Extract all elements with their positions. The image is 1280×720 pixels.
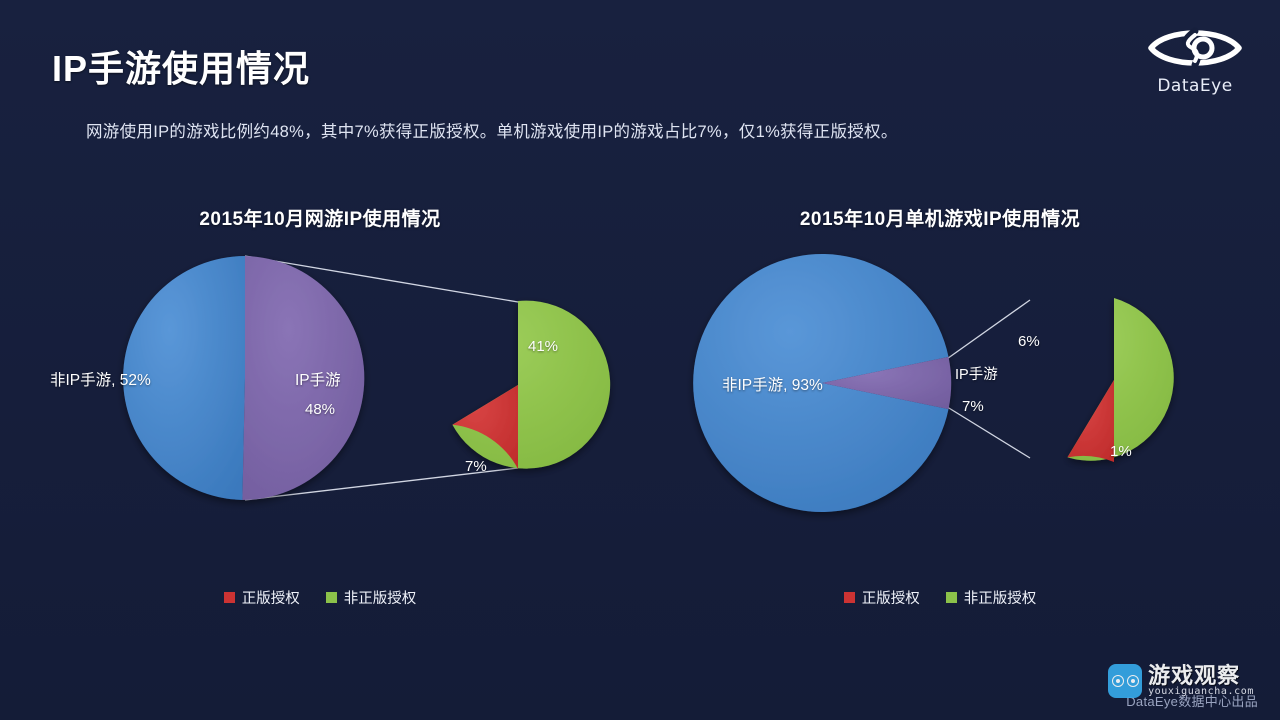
connector-lines-standalone — [944, 300, 1030, 458]
slice-non-ip-online — [123, 256, 245, 500]
legend-item-unlicensed-standalone[interactable]: 非正版授权 — [946, 587, 1037, 608]
legend-label-unlicensed: 非正版授权 — [964, 587, 1037, 608]
panel-standalone-games: 2015年10月单机游戏IP使用情况 — [640, 190, 1240, 630]
page-title: IP手游使用情况 — [52, 40, 310, 92]
legend-swatch-licensed — [844, 592, 855, 603]
pie-group-online — [20, 238, 620, 578]
watermark-en: youxiguancha.com — [1148, 687, 1254, 698]
detail-pie-online — [452, 301, 610, 469]
panel-online-games: 2015年10月网游IP使用情况 — [20, 190, 620, 630]
goggles-eye-right — [1127, 675, 1139, 687]
legend-online-games: 正版授权 非正版授权 — [20, 587, 620, 608]
page-subtitle: 网游使用IP的游戏比例约48%，其中7%获得正版授权。单机游戏使用IP的游戏占比… — [86, 118, 898, 142]
panel-title-standalone-games: 2015年10月单机游戏IP使用情况 — [640, 204, 1240, 231]
legend-label-unlicensed: 非正版授权 — [344, 587, 417, 608]
detail-pie-standalone — [1067, 298, 1173, 462]
dataeye-logo: DataEye — [1136, 22, 1254, 112]
pie-group-standalone — [640, 238, 1240, 578]
main-pie-standalone — [693, 254, 951, 512]
legend-item-licensed-online[interactable]: 正版授权 — [224, 587, 300, 608]
chart-standalone-games: 非IP手游, 93% IP手游 7% 6% 1% — [640, 238, 1240, 578]
slide-root: IP手游使用情况 网游使用IP的游戏比例约48%，其中7%获得正版授权。单机游戏… — [0, 0, 1280, 720]
panel-title-online-games: 2015年10月网游IP使用情况 — [20, 204, 620, 231]
main-pie-online — [123, 256, 364, 500]
legend-item-licensed-standalone[interactable]: 正版授权 — [844, 587, 920, 608]
legend-swatch-licensed — [224, 592, 235, 603]
logo-wordmark: DataEye — [1157, 76, 1232, 96]
slice-unlicensed-online — [452, 301, 610, 469]
legend-standalone-games: 正版授权 非正版授权 — [640, 587, 1240, 608]
legend-swatch-unlicensed — [946, 592, 957, 603]
goggles-eye-left — [1112, 675, 1124, 687]
legend-item-unlicensed-online[interactable]: 非正版授权 — [326, 587, 417, 608]
site-watermark: 游戏观察 youxiguancha.com — [1108, 664, 1254, 698]
watermark-text: 游戏观察 youxiguancha.com — [1148, 664, 1254, 698]
slice-ip-online — [242, 256, 364, 500]
chart-online-games: 非IP手游, 52% IP手游 48% 41% 7% — [20, 238, 620, 578]
legend-label-licensed: 正版授权 — [242, 587, 300, 608]
legend-swatch-unlicensed — [326, 592, 337, 603]
goggles-icon — [1108, 664, 1142, 698]
watermark-cn: 游戏观察 — [1148, 664, 1254, 687]
legend-label-licensed: 正版授权 — [862, 587, 920, 608]
slice-licensed-standalone — [1067, 380, 1114, 462]
eye-icon — [1147, 22, 1243, 74]
